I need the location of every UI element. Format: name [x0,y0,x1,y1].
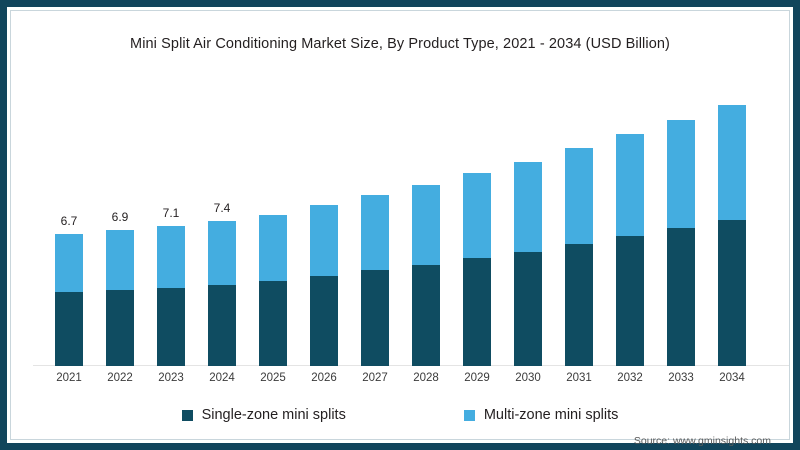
bar-segment-single-zone-2033 [667,228,695,366]
bar-segment-multi-zone-2032 [616,134,644,236]
bar-2033[interactable] [667,120,695,366]
bar-2023[interactable] [157,226,185,366]
x-axis-tick-2034: 2034 [702,372,762,384]
legend-label-single-zone: Single-zone mini splits [202,407,346,423]
bar-2029[interactable] [463,173,491,366]
bar-segment-multi-zone-2024 [208,221,236,285]
bar-2027[interactable] [361,195,389,366]
source-attribution: Source: www.gminsights.com [634,435,771,447]
bar-2031[interactable] [565,148,593,366]
bar-segment-single-zone-2031 [565,244,593,366]
legend-item-single-zone[interactable]: Single-zone mini splits [182,407,346,423]
bar-segment-multi-zone-2034 [718,105,746,220]
legend-item-multi-zone[interactable]: Multi-zone mini splits [464,407,619,423]
bar-segment-single-zone-2027 [361,270,389,366]
bar-segment-multi-zone-2025 [259,215,287,282]
bar-segment-single-zone-2022 [106,290,134,366]
bar-2024[interactable] [208,221,236,366]
bar-segment-single-zone-2021 [55,292,83,366]
bar-segment-single-zone-2023 [157,288,185,366]
bar-segment-multi-zone-2022 [106,230,134,290]
bar-segment-single-zone-2034 [718,220,746,366]
bar-segment-multi-zone-2021 [55,234,83,292]
bar-2028[interactable] [412,185,440,366]
bar-segment-single-zone-2028 [412,265,440,366]
bar-segment-single-zone-2030 [514,252,542,366]
bar-2021[interactable] [55,234,83,366]
chart-inner-border: Mini Split Air Conditioning Market Size,… [10,10,790,440]
bar-segment-multi-zone-2027 [361,195,389,270]
bar-segment-multi-zone-2026 [310,205,338,276]
bar-value-label-2024: 7.4 [192,201,252,215]
legend-label-multi-zone: Multi-zone mini splits [484,407,619,423]
bar-segment-multi-zone-2023 [157,226,185,287]
legend-swatch-single-zone [182,410,193,421]
bar-segment-single-zone-2026 [310,276,338,366]
bar-segment-multi-zone-2031 [565,148,593,244]
page-title: Mini Split Air Conditioning Market Size,… [11,36,789,52]
bar-segment-single-zone-2032 [616,236,644,366]
bar-2032[interactable] [616,134,644,366]
bar-2030[interactable] [514,162,542,366]
bar-segment-multi-zone-2028 [412,185,440,265]
bar-2026[interactable] [310,205,338,366]
chart-legend: Single-zone mini splits Multi-zone mini … [11,407,789,423]
bar-segment-single-zone-2024 [208,285,236,366]
bar-segment-multi-zone-2029 [463,173,491,258]
bar-2025[interactable] [259,215,287,366]
bar-segment-multi-zone-2030 [514,162,542,252]
legend-swatch-multi-zone [464,410,475,421]
bar-segment-single-zone-2029 [463,258,491,366]
plot-area: 6.76.97.17.4 [33,81,789,366]
bar-segment-multi-zone-2033 [667,120,695,228]
bar-2022[interactable] [106,230,134,366]
bar-segment-single-zone-2025 [259,281,287,366]
bar-2034[interactable] [718,105,746,366]
chart-frame: Mini Split Air Conditioning Market Size,… [0,0,800,450]
